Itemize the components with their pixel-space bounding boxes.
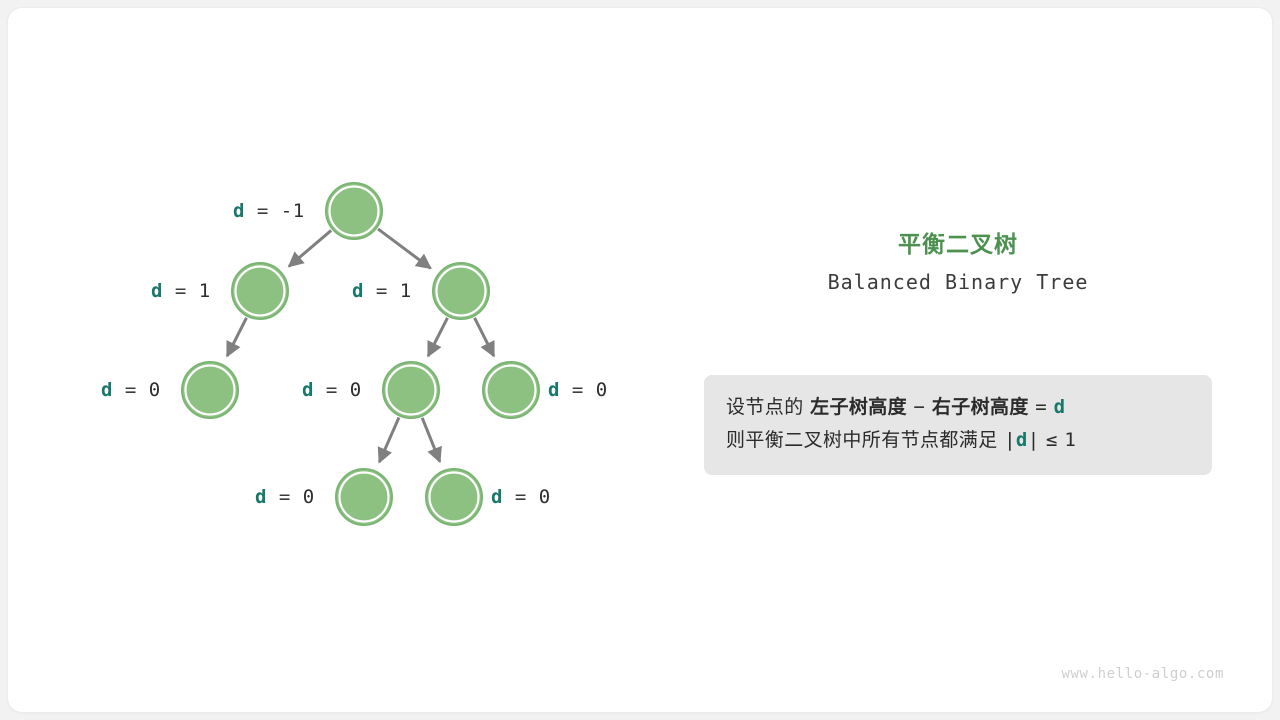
- tree-node[interactable]: [383, 362, 439, 418]
- tree-edge: [422, 418, 440, 462]
- tree-node[interactable]: [182, 362, 238, 418]
- diagram-card: d = -1d = 1d = 1d = 0d = 0d = 0d = 0d = …: [8, 8, 1272, 712]
- node-balance-label: d = 1: [151, 280, 211, 302]
- label-equals-sign: =: [245, 200, 281, 222]
- note-term-left: 左子树高度: [810, 396, 907, 418]
- tree-node[interactable]: [483, 362, 539, 418]
- node-inner-ring: [387, 366, 436, 415]
- label-variable-d: d: [101, 379, 113, 401]
- node-inner-ring: [487, 366, 536, 415]
- panel-title: 平衡二叉树: [704, 230, 1212, 260]
- label-balance-value: 1: [199, 280, 211, 302]
- node-inner-ring: [236, 267, 285, 316]
- info-panel: 平衡二叉树 Balanced Binary Tree: [704, 230, 1212, 295]
- node-balance-label: d = 0: [548, 379, 608, 401]
- note-line-1: 设节点的 左子树高度 − 右子树高度 = d: [726, 391, 1190, 424]
- definition-note-box: 设节点的 左子树高度 − 右子树高度 = d 则平衡二叉树中所有节点都满足 |d…: [704, 375, 1212, 475]
- node-balance-label: d = 1: [352, 280, 412, 302]
- label-balance-value: 1: [400, 280, 412, 302]
- node-balance-label: d = -1: [233, 200, 305, 222]
- label-equals-sign: =: [314, 379, 350, 401]
- abs-bar-close: |: [1028, 429, 1040, 451]
- label-balance-value: 0: [149, 379, 161, 401]
- abs-bar-open: |: [1004, 429, 1016, 451]
- label-equals-sign: =: [560, 379, 596, 401]
- label-balance-value: 0: [539, 486, 551, 508]
- label-balance-value: -1: [281, 200, 305, 222]
- note-variable-d-2: d: [1016, 429, 1028, 451]
- node-inner-ring: [330, 187, 379, 236]
- tree-node[interactable]: [426, 469, 482, 525]
- label-variable-d: d: [151, 280, 163, 302]
- label-variable-d: d: [352, 280, 364, 302]
- binary-tree-graphic: [8, 8, 1272, 712]
- tree-edge: [289, 230, 331, 266]
- node-balance-label: d = 0: [255, 486, 315, 508]
- label-variable-d: d: [491, 486, 503, 508]
- note-prefix-2: 则平衡二叉树中所有节点都满足: [726, 429, 998, 451]
- note-line-2: 则平衡二叉树中所有节点都满足 |d| ≤ 1: [726, 424, 1190, 457]
- label-equals-sign: =: [364, 280, 400, 302]
- node-inner-ring: [186, 366, 235, 415]
- label-equals-sign: =: [267, 486, 303, 508]
- note-relation-sign: ≤: [1046, 429, 1058, 451]
- watermark-url: www.hello-algo.com: [1061, 666, 1224, 682]
- label-equals-sign: =: [163, 280, 199, 302]
- node-balance-label: d = 0: [491, 486, 551, 508]
- label-equals-sign: =: [503, 486, 539, 508]
- tree-node[interactable]: [336, 469, 392, 525]
- tree-edge: [379, 417, 399, 462]
- node-inner-ring: [430, 473, 479, 522]
- label-balance-value: 0: [350, 379, 362, 401]
- note-prefix: 设节点的: [726, 396, 804, 418]
- note-minus-sign: −: [914, 396, 926, 418]
- tree-node[interactable]: [433, 263, 489, 319]
- node-inner-ring: [340, 473, 389, 522]
- node-inner-ring: [437, 267, 486, 316]
- tree-edge: [378, 229, 431, 268]
- label-equals-sign: =: [113, 379, 149, 401]
- tree-edge: [475, 318, 494, 356]
- node-balance-label: d = 0: [101, 379, 161, 401]
- label-variable-d: d: [255, 486, 267, 508]
- tree-node[interactable]: [326, 183, 382, 239]
- panel-subtitle: Balanced Binary Tree: [704, 269, 1212, 295]
- note-variable-d: d: [1054, 396, 1066, 418]
- tree-nodes: [182, 183, 539, 525]
- label-balance-value: 0: [303, 486, 315, 508]
- label-variable-d: d: [233, 200, 245, 222]
- label-balance-value: 0: [596, 379, 608, 401]
- tree-edge: [428, 318, 447, 356]
- note-term-right: 右子树高度: [932, 396, 1029, 418]
- note-bound-value: 1: [1064, 429, 1076, 451]
- label-variable-d: d: [548, 379, 560, 401]
- label-variable-d: d: [302, 379, 314, 401]
- tree-node[interactable]: [232, 263, 288, 319]
- tree-edge: [227, 318, 246, 356]
- node-balance-label: d = 0: [302, 379, 362, 401]
- note-equals-sign: =: [1035, 396, 1047, 418]
